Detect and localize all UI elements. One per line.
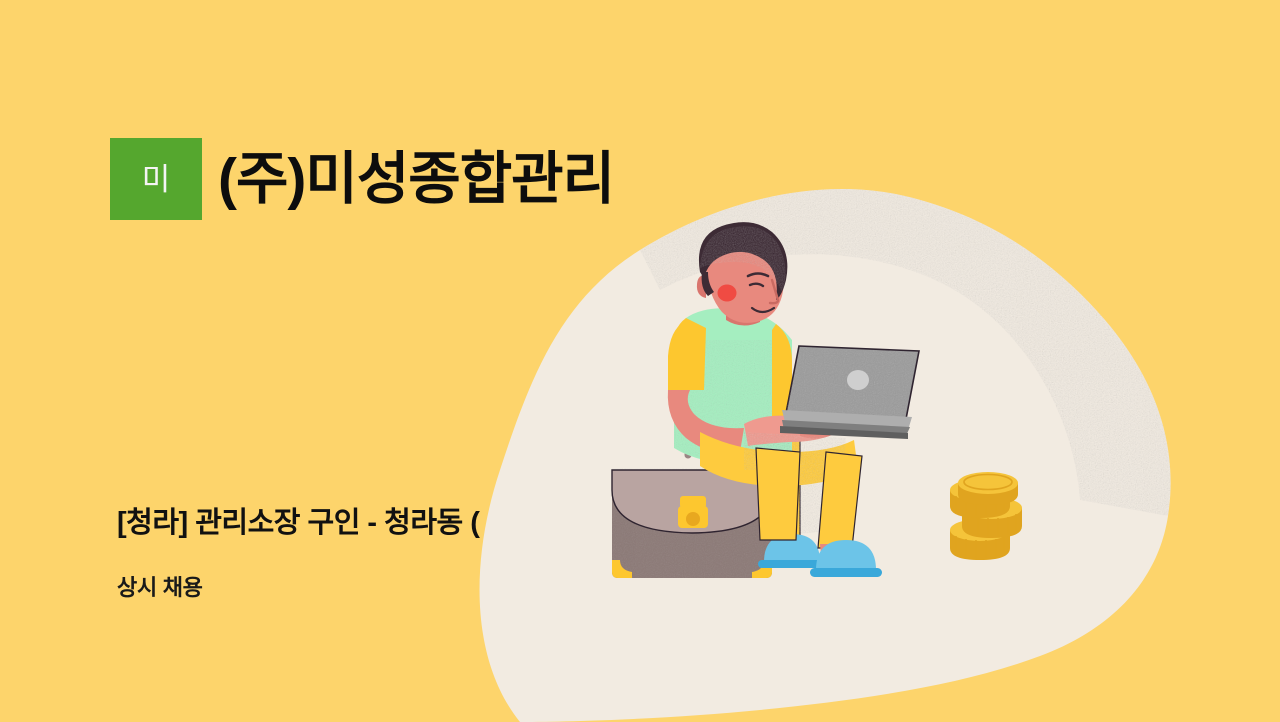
coin-stack: [950, 472, 1022, 560]
job-posting-title: [청라] 관리소장 구인 - 청라동 (: [117, 508, 479, 540]
head: [694, 218, 794, 326]
back-leg: [752, 432, 826, 568]
illustration-man-with-laptop: [0, 0, 1280, 722]
company-header: 미 (주)미성종합관리: [110, 138, 614, 220]
briefcase: [612, 442, 774, 580]
company-logo-badge: 미: [110, 138, 202, 220]
background-blob: [0, 0, 1280, 722]
job-posting-card: 미 (주)미성종합관리 [청라] 관리소장 구인 - 청라동 ( 상시 채용: [0, 0, 1280, 722]
laptop: [780, 346, 922, 439]
torso: [660, 308, 867, 470]
front-leg: [700, 430, 882, 577]
job-posting-status: 상시 채용: [117, 576, 203, 600]
company-name: (주)미성종합관리: [218, 151, 614, 208]
